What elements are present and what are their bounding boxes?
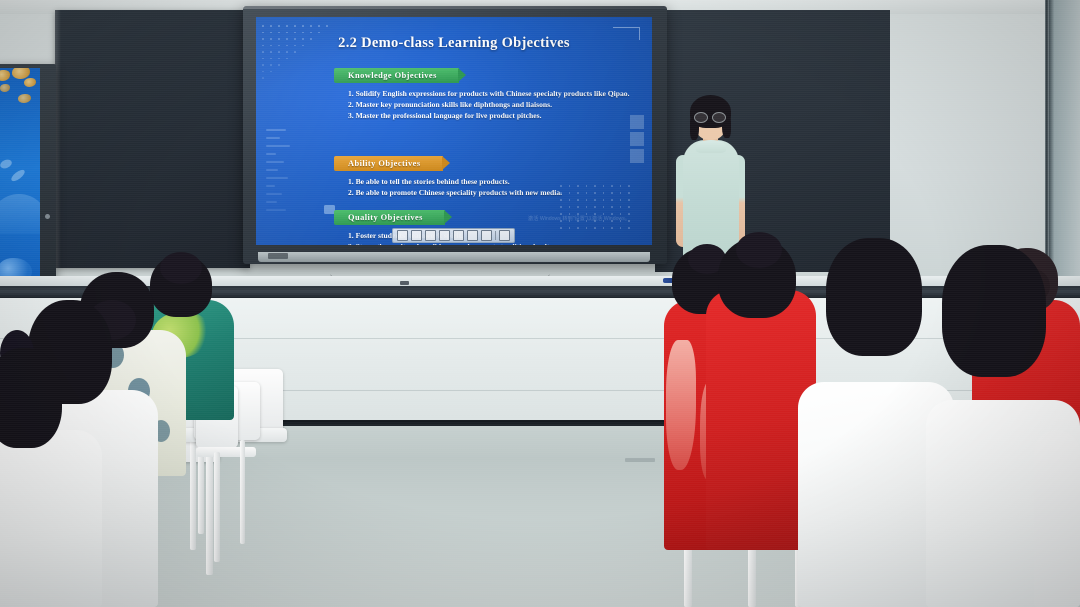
- undo-icon[interactable]: [481, 230, 492, 241]
- wall-far-right-panel: [1047, 0, 1080, 300]
- classroom-scene: 2.2 Demo-class Learning Objectives Knowl…: [0, 0, 1080, 607]
- slide-section-knowledge: Knowledge Objectives 1. Solidify English…: [334, 65, 634, 122]
- list-icon[interactable]: [467, 230, 478, 241]
- bullets-knowledge: 1. Solidify English expressions for prod…: [334, 88, 634, 122]
- bullet-item: 2. Master key pronunciation skills like …: [348, 99, 634, 110]
- panel-base: [258, 252, 650, 262]
- wall-marking: [625, 458, 655, 462]
- teacher-mandarin-collar: [696, 140, 726, 153]
- windows-activation-watermark: 激活 Windows 转到"设置"以激活 Windows。: [528, 216, 630, 223]
- toolbar-separator: [495, 231, 496, 240]
- eraser-icon[interactable]: [425, 230, 436, 241]
- bezel-highlight: [243, 6, 667, 9]
- bullet-item: 1. Solidify English expressions for prod…: [348, 88, 634, 99]
- side-display-power-button[interactable]: [45, 214, 50, 219]
- tray-clip: [400, 281, 409, 285]
- pen-icon[interactable]: [411, 230, 422, 241]
- banner-ability-objectives: Ability Objectives: [334, 156, 443, 171]
- panel-brand-logo: [268, 253, 288, 259]
- wave-motif: [0, 194, 40, 234]
- side-display-screen[interactable]: [0, 68, 40, 290]
- bullet-item: 2. Be able to promote Chinese speciality…: [348, 187, 634, 198]
- slide-title: 2.2 Demo-class Learning Objectives: [256, 35, 652, 52]
- tick-marks-decoration: [266, 129, 292, 215]
- annotation-toolbar[interactable]: [392, 228, 515, 243]
- cursor-icon[interactable]: [397, 230, 408, 241]
- bullets-ability: 1. Be able to tell the stories behind th…: [334, 176, 634, 198]
- side-display-frame: [0, 64, 56, 296]
- select-icon[interactable]: [453, 230, 464, 241]
- keyboard-icon[interactable]: [499, 230, 510, 241]
- slide-section-ability: Ability Objectives 1. Be able to tell th…: [334, 153, 634, 198]
- presentation-slide[interactable]: 2.2 Demo-class Learning Objectives Knowl…: [256, 17, 652, 245]
- bullet-item: 1. Be able to tell the stories behind th…: [348, 176, 634, 187]
- blackboard-left-panel: [55, 10, 250, 268]
- glasses-icon: [694, 112, 726, 121]
- banner-knowledge-objectives: Knowledge Objectives: [334, 68, 459, 83]
- shape-icon[interactable]: [439, 230, 450, 241]
- bullet-item: 3. Master the professional language for …: [348, 110, 634, 121]
- banner-quality-objectives: Quality Objectives: [334, 210, 445, 225]
